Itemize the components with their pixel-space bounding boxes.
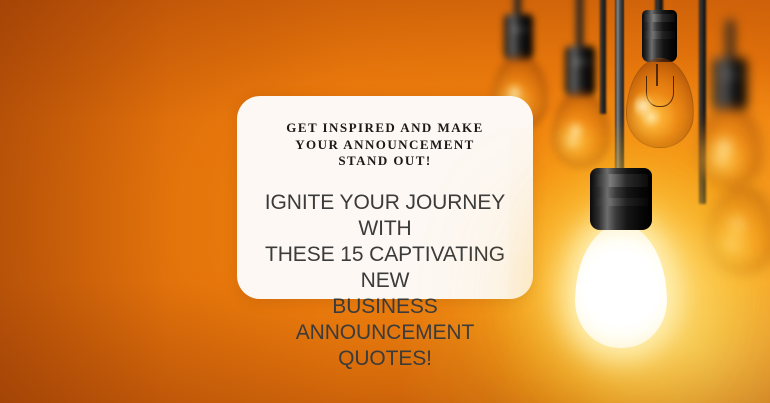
cord-left	[600, 0, 606, 114]
bulb-socket-foreground	[590, 168, 652, 230]
headline-line-2: THESE 15 CAPTIVATING NEW	[255, 242, 515, 294]
headline-line-4: QUOTES!	[255, 346, 515, 372]
eyebrow-line-3: STAND OUT!	[255, 153, 515, 170]
headline-line-1: IGNITE YOUR JOURNEY WITH	[255, 190, 515, 242]
card-headline: IGNITE YOUR JOURNEY WITH THESE 15 CAPTIV…	[255, 190, 515, 372]
text-card: GET INSPIRED AND MAKE YOUR ANNOUNCEMENT …	[237, 96, 533, 299]
card-eyebrow: GET INSPIRED AND MAKE YOUR ANNOUNCEMENT …	[255, 120, 515, 170]
headline-line-3: BUSINESS ANNOUNCEMENT	[255, 294, 515, 346]
hero-banner: GET INSPIRED AND MAKE YOUR ANNOUNCEMENT …	[0, 0, 770, 403]
eyebrow-line-2: YOUR ANNOUNCEMENT	[255, 137, 515, 154]
eyebrow-line-1: GET INSPIRED AND MAKE	[255, 120, 515, 137]
